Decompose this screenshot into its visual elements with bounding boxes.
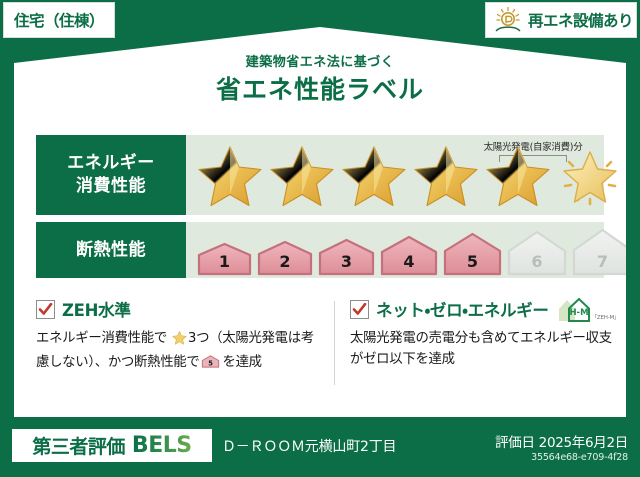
insulation-grade-3: 3 (317, 238, 376, 276)
card-subtitle: 建築物省エネ法に基づく (14, 55, 626, 71)
insulation-performance-row: 断熱性能 (36, 222, 604, 278)
insulation-grade-2-label: 2 (256, 252, 314, 271)
dwelling-type-tag: 住宅（住棟） (3, 2, 115, 38)
criteria-zeh-title: ZEH水準 (62, 297, 131, 321)
bels-en-label: BELS (132, 433, 192, 458)
insulation-grade-2: 2 (256, 240, 314, 276)
insulation-grade-5: 5 (442, 232, 503, 276)
evaluation-id: 35564e68-e709-4f28 (531, 452, 628, 463)
property-name: Ｄ－ＲＯＯＭ元横山町2丁目 (222, 436, 396, 456)
insulation-performance-value-box: 1 2 3 (186, 222, 604, 278)
insulation-grade-6-label: 6 (506, 252, 568, 271)
check-icon (38, 302, 53, 317)
criteria-section: ZEH水準 エネルギー消費性能で 3つ（太陽光発電は考慮しない）、かつ断熱性能で… (36, 297, 632, 376)
criteria-zeh-panel: ZEH水準 エネルギー消費性能で 3つ（太陽光発電は考慮しない）、かつ断熱性能で… (36, 297, 334, 376)
inline-star-icon (168, 334, 187, 349)
renewable-equipment-label: 再エネ設備あり (528, 9, 633, 31)
criteria-nze-header: ネット・ゼロ・エネルギー H-M 「ZEH-M」 (350, 297, 619, 321)
star-filled-2 (268, 142, 336, 208)
star-filled-5 (484, 142, 552, 208)
zeh-m-caption: 「ZEH-M」 (592, 313, 620, 323)
insulation-grade-3-label: 3 (317, 252, 376, 271)
insulation-grade-5-label: 5 (442, 252, 503, 271)
renewable-equipment-tag: 再エネ設備あり (485, 2, 637, 38)
criteria-nze-body: 太陽光発電の売電分も含めてエネルギー収支がゼロ以下を達成 (350, 328, 619, 370)
energy-performance-value-box: 太陽光発電(自家消費)分 (186, 135, 604, 215)
criteria-zeh-body-part3: を達成 (222, 355, 261, 370)
svg-text:H-M: H-M (569, 308, 588, 318)
sun-renewable-icon (493, 6, 523, 34)
svg-text:5: 5 (209, 360, 214, 368)
star-filled-1 (196, 142, 264, 208)
zeh-m-house-icon: H-M (557, 296, 591, 323)
label-card: 建築物省エネ法に基づく 省エネ性能ラベル エネルギー 消費性能 太陽光発電(自家… (14, 27, 626, 417)
insulation-grade-1: 1 (196, 242, 253, 276)
nze-checkbox (350, 300, 369, 319)
criteria-zeh-body-part1: エネルギー消費性能で (36, 331, 167, 346)
evaluation-date: 評価日 2025年6月2日 (495, 431, 628, 451)
dwelling-type-label: 住宅（住棟） (14, 9, 104, 31)
inline-house-icon: 5 (201, 354, 220, 376)
insulation-grade-7-label: 7 (571, 252, 634, 271)
star-filled-3 (340, 142, 408, 208)
card-title-block: 建築物省エネ法に基づく 省エネ性能ラベル (14, 55, 626, 105)
bels-badge: 第三者評価 BELS (12, 429, 212, 462)
criteria-nze-panel: ネット・ゼロ・エネルギー H-M 「ZEH-M」 太陽光発電の売電分も含めてエネ… (334, 297, 633, 376)
check-icon (352, 302, 367, 317)
zeh-m-logo: H-M 「ZEH-M」 (557, 296, 620, 323)
insulation-grade-6: 6 (506, 230, 568, 276)
insulation-grade-7: 7 (571, 228, 634, 276)
insulation-grade-1-label: 1 (196, 252, 253, 271)
energy-performance-label-box: エネルギー 消費性能 (36, 135, 186, 215)
star-filled-4 (412, 142, 480, 208)
insulation-grade-4: 4 (379, 235, 439, 276)
insulation-performance-label-box: 断熱性能 (36, 222, 186, 278)
star-rating (196, 135, 624, 215)
energy-performance-row: エネルギー 消費性能 太陽光発電(自家消費)分 (36, 135, 604, 215)
insulation-grade-scale: 1 2 3 (196, 228, 634, 276)
insulation-label-line1: 断熱性能 (76, 239, 146, 262)
criteria-zeh-header: ZEH水準 (36, 297, 320, 321)
criteria-zeh-body: エネルギー消費性能で 3つ（太陽光発電は考慮しない）、かつ断熱性能で 5 を達成 (36, 328, 320, 376)
insulation-grade-4-label: 4 (379, 252, 439, 271)
page-title: 省エネ性能ラベル (14, 75, 626, 105)
star-solar-sparkle (556, 142, 624, 208)
performance-rows: エネルギー 消費性能 太陽光発電(自家消費)分 (36, 135, 604, 285)
bels-jp-label: 第三者評価 (32, 432, 125, 459)
footer: 第三者評価 BELS Ｄ－ＲＯＯＭ元横山町2丁目 評価日 2025年6月2日 3… (0, 419, 640, 477)
energy-label-line2: 消費性能 (76, 175, 146, 198)
energy-performance-label: 住宅（住棟） 再エネ設備あり 建築物省エネ (0, 0, 640, 477)
criteria-nze-title: ネット・ゼロ・エネルギー (376, 297, 549, 321)
energy-label-line1: エネルギー (67, 152, 155, 175)
zeh-checkbox (36, 300, 55, 319)
